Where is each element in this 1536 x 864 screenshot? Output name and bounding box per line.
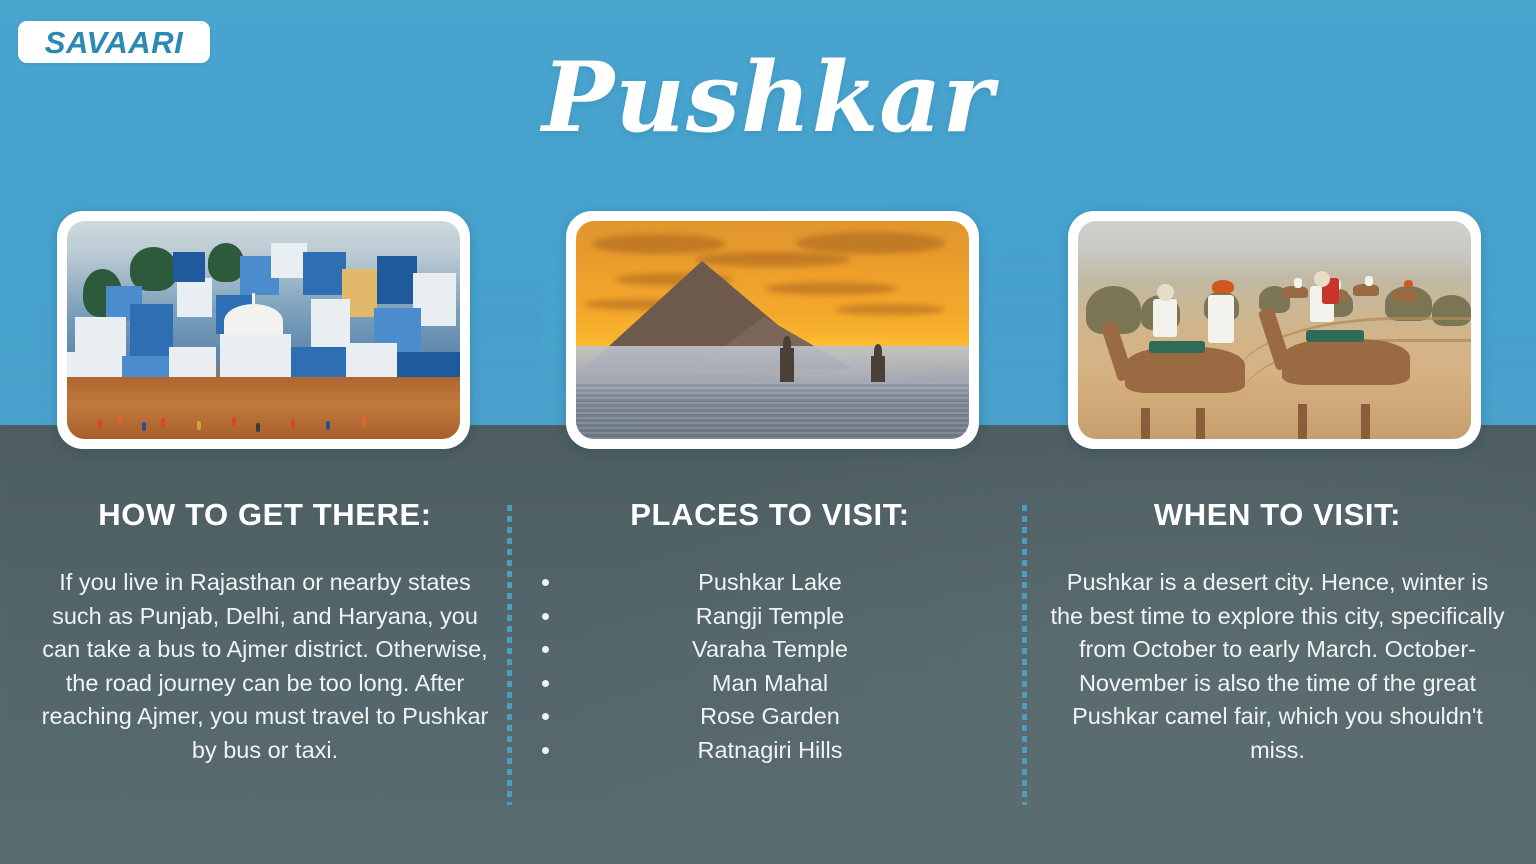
column-when-to-visit: WHEN TO VISIT: Pushkar is a desert city.…: [1050, 498, 1505, 767]
list-item: Man Mahal: [545, 667, 995, 701]
column-how-to-get-there: HOW TO GET THERE: If you live in Rajasth…: [40, 498, 490, 767]
photo-card-pushkar-ghats: [57, 211, 470, 449]
column-body-how-to-get-there: If you live in Rajasthan or nearby state…: [40, 566, 490, 767]
camel-safari-desert-image: [1078, 221, 1471, 439]
pushkar-travel-infographic: SAVAARI Pushkar: [0, 0, 1536, 864]
list-item-label: Ratnagiri Hills: [698, 737, 843, 763]
list-item-label: Rangji Temple: [696, 603, 844, 629]
column-divider-right: [1022, 505, 1027, 805]
bullet-icon: [542, 713, 549, 720]
column-divider-left: [507, 505, 512, 805]
bullet-icon: [542, 680, 549, 687]
list-item: Pushkar Lake: [545, 566, 995, 600]
places-to-visit-list: Pushkar Lake Rangji Temple Varaha Temple…: [545, 566, 995, 767]
column-heading-when-to-visit: WHEN TO VISIT:: [1050, 498, 1505, 532]
pushkar-lake-sunset-image: [576, 221, 969, 439]
bullet-icon: [542, 579, 549, 586]
page-title: Pushkar: [0, 48, 1536, 149]
list-item: Varaha Temple: [545, 633, 995, 667]
bullet-icon: [542, 646, 549, 653]
column-places-to-visit: PLACES TO VISIT: Pushkar Lake Rangji Tem…: [545, 498, 995, 767]
list-item-label: Rose Garden: [700, 703, 840, 729]
bullet-icon: [542, 747, 549, 754]
list-item: Rose Garden: [545, 700, 995, 734]
list-item-label: Pushkar Lake: [698, 569, 842, 595]
list-item: Rangji Temple: [545, 600, 995, 634]
column-heading-how-to-get-there: HOW TO GET THERE:: [40, 498, 490, 532]
photo-card-camel-safari: [1068, 211, 1481, 449]
list-item: Ratnagiri Hills: [545, 734, 995, 768]
column-body-when-to-visit: Pushkar is a desert city. Hence, winter …: [1050, 566, 1505, 767]
list-item-label: Varaha Temple: [692, 636, 848, 662]
bullet-icon: [542, 613, 549, 620]
photo-card-pushkar-lake-sunset: [566, 211, 979, 449]
pushkar-ghats-blue-town-image: [67, 221, 460, 439]
column-heading-places-to-visit: PLACES TO VISIT:: [545, 498, 995, 532]
list-item-label: Man Mahal: [712, 670, 828, 696]
